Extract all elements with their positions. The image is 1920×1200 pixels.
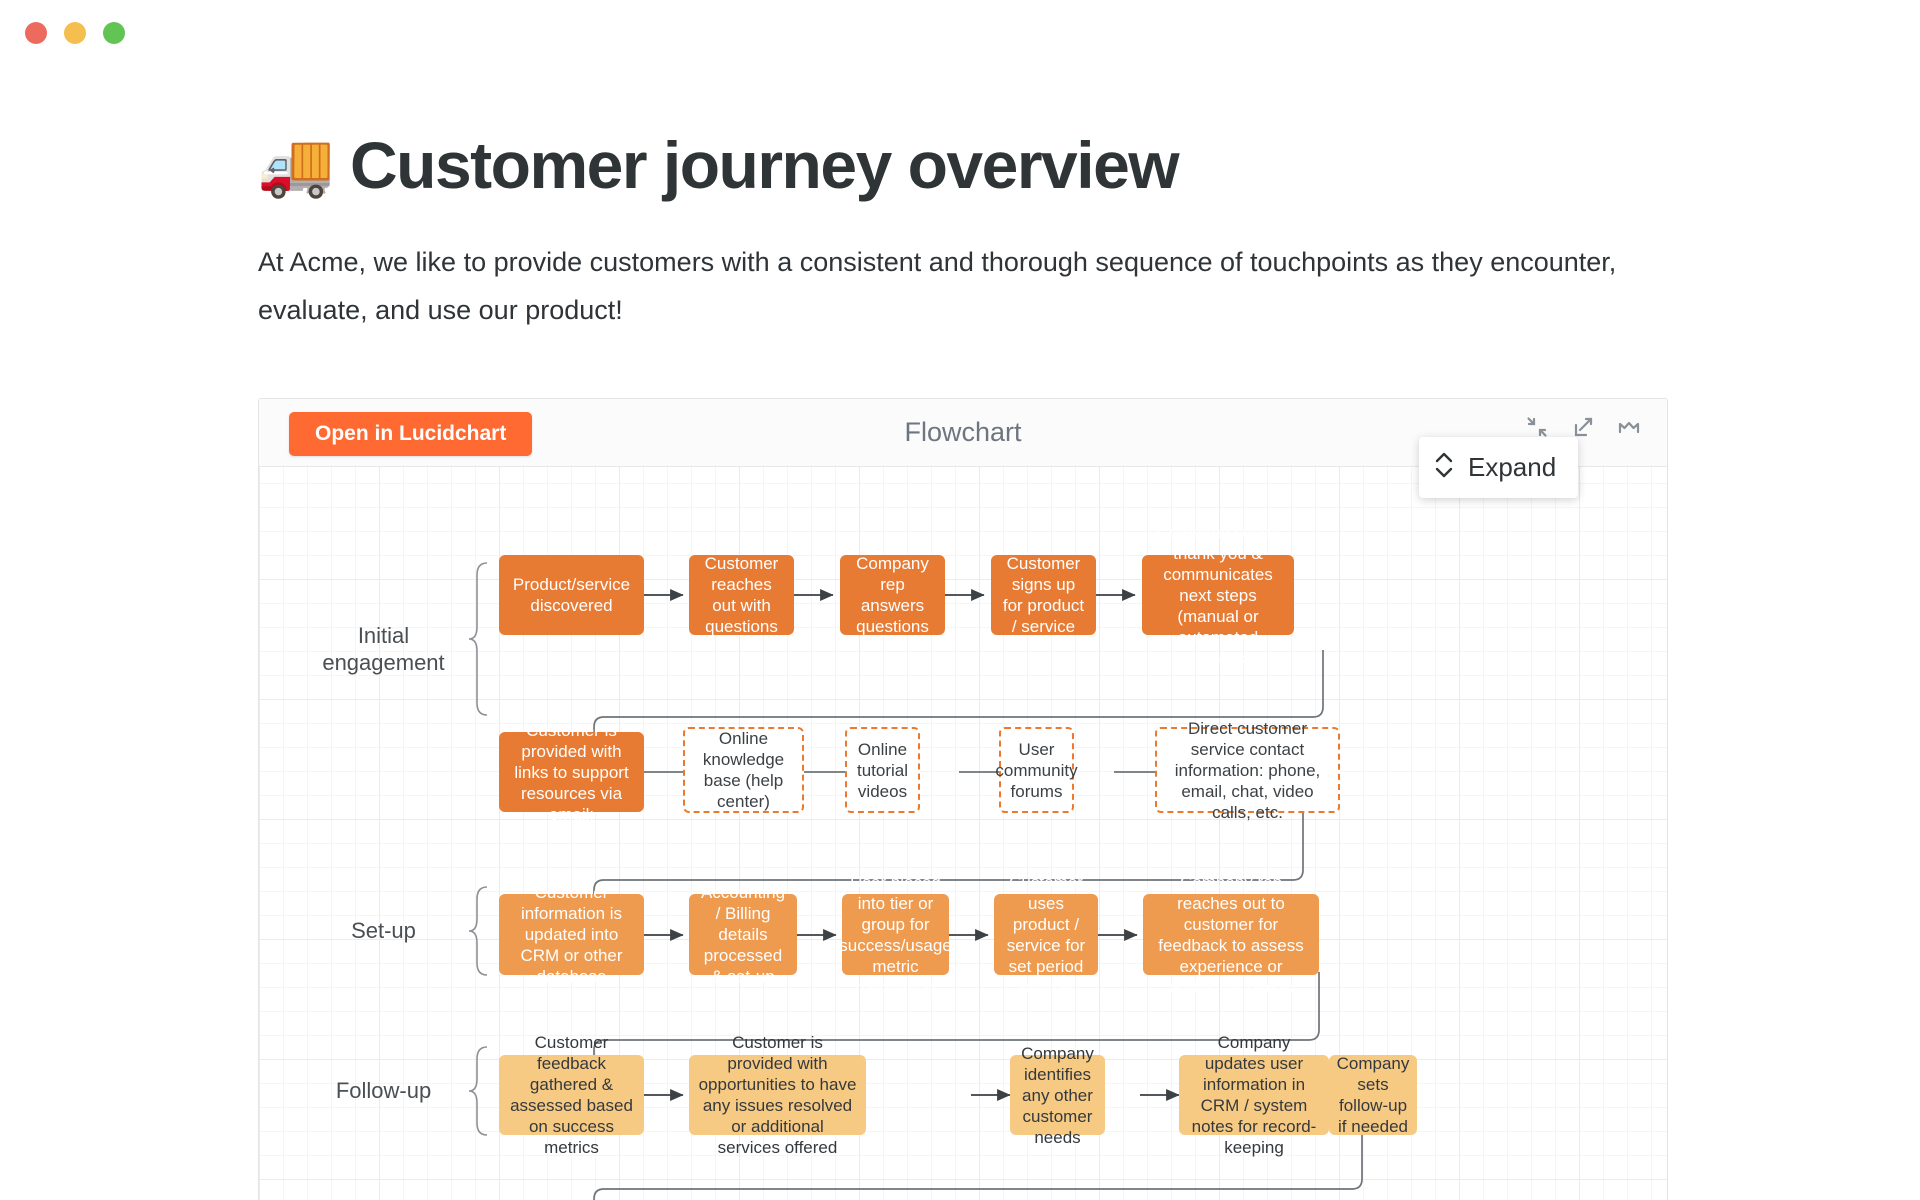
- page-title-row: 🚚 Customer journey overview: [258, 128, 1678, 204]
- close-dot[interactable]: [25, 22, 47, 44]
- flow-node-r1c5[interactable]: Company sends thank you & communicates n…: [1142, 555, 1294, 635]
- flow-node-r1c1[interactable]: Product/service discovered: [499, 555, 644, 635]
- flow-node-r2c5[interactable]: Direct customer service contact informat…: [1155, 727, 1340, 813]
- flow-node-r2c3[interactable]: Online tutorial videos: [845, 727, 920, 813]
- lucidchart-embed: Open in Lucidchart Flowchart: [258, 398, 1668, 1200]
- flow-node-r4c1[interactable]: Customer feedback gathered & assessed ba…: [499, 1055, 644, 1135]
- group-braces: [469, 563, 487, 1135]
- lucidchart-logo-icon[interactable]: [1617, 415, 1641, 439]
- minimize-dot[interactable]: [64, 22, 86, 44]
- flow-node-r1c4[interactable]: Customer signs up for product / service: [991, 555, 1096, 635]
- flowchart: Initial engagement Set-up Follow-up Prod…: [259, 467, 1667, 1200]
- window-controls: [25, 22, 125, 44]
- flow-node-r3c4[interactable]: Customer uses product / service for set …: [994, 894, 1098, 975]
- flow-node-r4c4[interactable]: Company updates user information in CRM …: [1179, 1055, 1329, 1135]
- delivery-truck-emoji: 🚚: [258, 128, 334, 204]
- flow-node-r4c3[interactable]: Company identifies any other customer ne…: [1010, 1055, 1105, 1135]
- flow-node-r2c1[interactable]: Customer is provided with links to suppo…: [499, 732, 644, 812]
- connector-layer: [259, 467, 1667, 1200]
- flow-node-r3c3[interactable]: User placed into tier or group for succe…: [842, 894, 949, 975]
- flow-node-r2c2[interactable]: Online knowledge base (help center): [683, 727, 804, 813]
- app-window: 🚚 Customer journey overview At Acme, we …: [0, 0, 1920, 1200]
- flow-node-r4c5[interactable]: Company sets follow-up if needed: [1329, 1055, 1417, 1135]
- diagram-canvas[interactable]: Initial engagement Set-up Follow-up Prod…: [259, 467, 1667, 1200]
- expand-arrow-icon[interactable]: [1571, 415, 1595, 439]
- flow-node-r4c2[interactable]: Customer is provided with opportunities …: [689, 1055, 866, 1135]
- embed-toolbar: Open in Lucidchart Flowchart: [259, 399, 1667, 467]
- group-label-setup: Set-up: [311, 917, 456, 944]
- page-title: Customer journey overview: [350, 131, 1178, 200]
- window-titlebar: [0, 0, 1920, 62]
- expand-tooltip[interactable]: Expand: [1419, 437, 1578, 498]
- collapse-arrows-icon[interactable]: [1525, 415, 1549, 439]
- group-label-followup: Follow-up: [311, 1077, 456, 1104]
- flow-node-r2c4[interactable]: User community forums: [999, 727, 1074, 813]
- flow-node-r1c2[interactable]: Customer reaches out with questions: [689, 555, 794, 635]
- flow-node-r3c2[interactable]: Accounting / Billing details processed &…: [689, 894, 797, 975]
- page-subtitle: At Acme, we like to provide customers wi…: [258, 238, 1648, 334]
- maximize-dot[interactable]: [103, 22, 125, 44]
- expand-tooltip-label: Expand: [1468, 452, 1556, 483]
- embed-tool-icons: [1525, 415, 1641, 439]
- page-header: 🚚 Customer journey overview At Acme, we …: [258, 128, 1678, 334]
- group-label-initial-engagement: Initial engagement: [311, 622, 456, 676]
- flow-node-r3c5[interactable]: Company rep reaches out to customer for …: [1143, 894, 1319, 975]
- flow-node-r1c3[interactable]: Company rep answers questions: [840, 555, 945, 635]
- flow-node-r3c1[interactable]: Customer information is updated into CRM…: [499, 894, 644, 975]
- expand-chevrons-icon: [1433, 450, 1455, 485]
